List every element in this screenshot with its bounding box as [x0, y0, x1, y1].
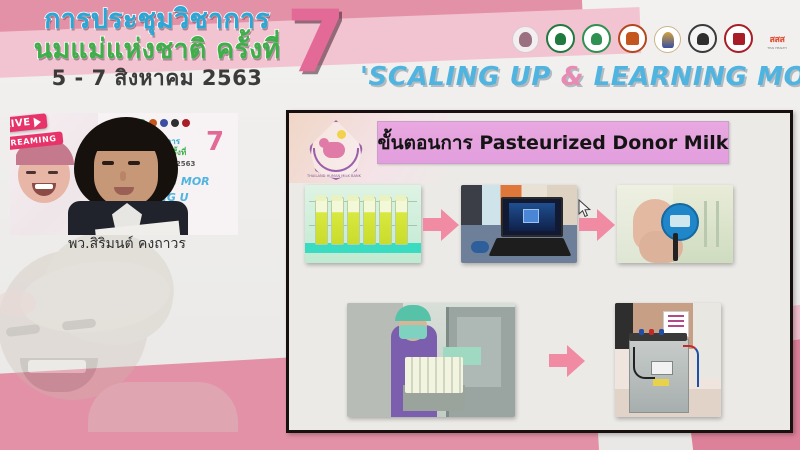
- slide-title-text: ขั้นตอนการ Pasteurized Donor Milk: [378, 128, 729, 158]
- human-milk-bank-droplet-logo: THAILAND HUMAN MILK BANK: [303, 118, 365, 182]
- tagline-prefix: 'SCALING UP: [360, 62, 561, 92]
- mouse-cursor: [578, 199, 592, 219]
- live-label: LIVE: [10, 117, 31, 131]
- sponsor-logo-strip: สสส THAI HEALTH: [512, 24, 794, 53]
- photo-nurse-loading-bottles: [347, 303, 515, 417]
- live-video-panel[interactable]: การประชุมวิชาการ นมแม่แห่งชาติ ครั้งที่ …: [10, 113, 238, 235]
- photo-milk-bottles-rack: [305, 185, 421, 263]
- pediatric-society-logo: [724, 24, 753, 53]
- speaker-video-figure: [68, 117, 184, 235]
- poster-edition-number: 7: [206, 129, 224, 155]
- slide-title-banner: ขั้นตอนการ Pasteurized Donor Milk: [377, 121, 729, 164]
- child-portrait-watermark: [0, 232, 242, 432]
- conference-title-block: การประชุมวิชาการ นมแม่แห่งชาติ ครั้งที่ …: [22, 6, 292, 89]
- photo-laptop-workstation: [461, 185, 577, 263]
- royal-college-logo: [654, 26, 681, 53]
- conference-title-line2: นมแม่แห่งชาติ ครั้งที่: [22, 36, 292, 64]
- ministry-of-public-health-logo: [546, 24, 575, 53]
- photo-hand-thermometer: [617, 185, 733, 263]
- tagline-ampersand: &: [561, 62, 584, 92]
- flow-arrow-3: [547, 343, 587, 377]
- flow-arrow-1: [421, 207, 461, 241]
- thaihealth-sss-logo: สสส THAI HEALTH: [760, 28, 794, 53]
- milk-bank-logo-caption: THAILAND HUMAN MILK BANK: [299, 174, 369, 178]
- conference-title-line1: การประชุมวิชาการ: [22, 6, 292, 34]
- department-of-health-logo: [582, 24, 611, 53]
- edition-number: 7: [286, 0, 346, 92]
- play-icon: [33, 116, 41, 127]
- process-flow-row-top: [305, 185, 783, 263]
- presentation-slide[interactable]: THAILAND HUMAN MILK BANK ขั้นตอนการ Past…: [286, 110, 793, 433]
- photo-pasteurizer-machine: [615, 303, 721, 417]
- sss-logo-text: สสส: [770, 32, 785, 46]
- thai-breastfeeding-centre-logo: [618, 24, 647, 53]
- tagline-suffix: LEARNING MORE': [584, 62, 800, 92]
- process-flow-row-bottom: [347, 303, 767, 417]
- royal-patronage-logo: [512, 26, 539, 53]
- conference-dates: 5 - 7 สิงหาคม 2563: [22, 68, 292, 89]
- conference-tagline: 'SCALING UP & LEARNING MORE': [360, 62, 794, 92]
- screen: การประชุมวิชาการ นมแม่แห่งชาติ ครั้งที่ …: [0, 0, 800, 450]
- speaker-name: พว.สิริมนต์ คงถาวร: [18, 233, 236, 255]
- national-health-security-logo: [688, 24, 717, 53]
- sss-logo-subtext: THAI HEALTH: [767, 46, 787, 50]
